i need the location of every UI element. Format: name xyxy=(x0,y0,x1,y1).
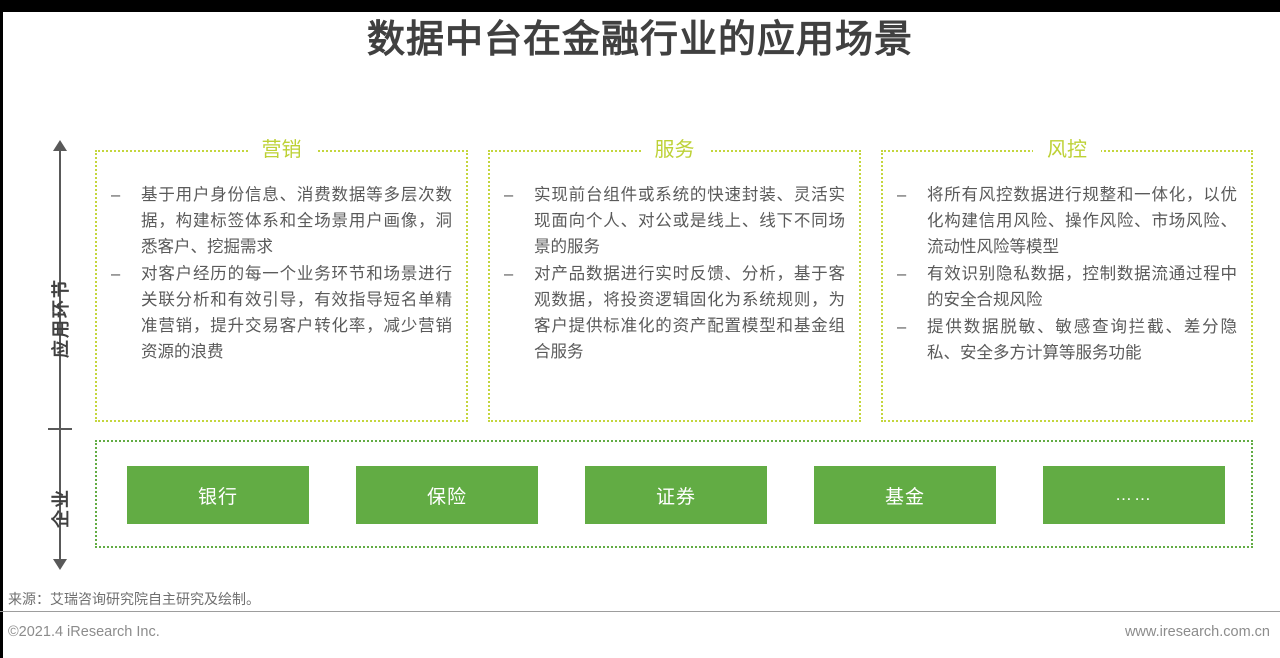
list-item: 对产品数据进行实时反馈、分析，基于客观数据，将投资逻辑固化为系统规则，为客户提供… xyxy=(500,261,845,365)
scenario-cards: 营销 基于用户身份信息、消费数据等多层次数据，构建标签体系和全场景用户画像，洞悉… xyxy=(95,150,1253,422)
axis-label-application-stage: 应用环节 xyxy=(47,278,73,358)
list-item: 将所有风控数据进行规整和一体化，以优化构建信用风险、操作风险、市场风险、流动性风… xyxy=(893,182,1237,260)
source-note: 来源：艾瑞咨询研究院自主研究及绘制。 xyxy=(8,589,260,609)
left-black-edge xyxy=(0,12,3,658)
vertical-axis: 应用环节 企业 xyxy=(40,140,80,570)
scenario-card-title: 服务 xyxy=(641,136,709,164)
scenario-card-title: 营销 xyxy=(248,136,316,164)
enterprise-tile-more[interactable]: …… xyxy=(1043,466,1225,524)
arrow-down-icon xyxy=(53,559,67,570)
top-black-bar xyxy=(0,0,1280,12)
scenario-card-marketing: 营销 基于用户身份信息、消费数据等多层次数据，构建标签体系和全场景用户画像，洞悉… xyxy=(95,150,468,422)
enterprise-band: 银行 保险 证券 基金 …… xyxy=(95,440,1253,548)
scenario-bullet-list: 基于用户身份信息、消费数据等多层次数据，构建标签体系和全场景用户画像，洞悉客户、… xyxy=(97,152,466,365)
scenario-card-title: 风控 xyxy=(1033,136,1101,164)
axis-tick xyxy=(48,428,72,430)
list-item: 有效识别隐私数据，控制数据流通过程中的安全合规风险 xyxy=(893,261,1237,313)
enterprise-tile-row: 银行 保险 证券 基金 …… xyxy=(127,466,1225,524)
enterprise-tile-insurance[interactable]: 保险 xyxy=(356,466,538,524)
scenario-card-service: 服务 实现前台组件或系统的快速封装、灵活实现面向个人、对公或是线上、线下不同场景… xyxy=(488,150,861,422)
enterprise-tile-fund[interactable]: 基金 xyxy=(814,466,996,524)
list-item: 对客户经历的每一个业务环节和场景进行关联分析和有效引导，有效指导短名单精准营销，… xyxy=(107,261,452,365)
scenario-bullet-list: 实现前台组件或系统的快速封装、灵活实现面向个人、对公或是线上、线下不同场景的服务… xyxy=(490,152,859,365)
scenario-bullet-list: 将所有风控数据进行规整和一体化，以优化构建信用风险、操作风险、市场风险、流动性风… xyxy=(883,152,1251,366)
page-title: 数据中台在金融行业的应用场景 xyxy=(0,16,1280,64)
website-url: www.iresearch.com.cn xyxy=(1125,624,1270,640)
scenario-card-risk-control: 风控 将所有风控数据进行规整和一体化，以优化构建信用风险、操作风险、市场风险、流… xyxy=(881,150,1253,422)
axis-label-enterprise: 企业 xyxy=(47,488,73,528)
footer-divider xyxy=(0,611,1280,612)
list-item: 提供数据脱敏、敏感查询拦截、差分隐私、安全多方计算等服务功能 xyxy=(893,314,1237,366)
enterprise-tile-bank[interactable]: 银行 xyxy=(127,466,309,524)
list-item: 实现前台组件或系统的快速封装、灵活实现面向个人、对公或是线上、线下不同场景的服务 xyxy=(500,182,845,260)
enterprise-tile-securities[interactable]: 证券 xyxy=(585,466,767,524)
list-item: 基于用户身份信息、消费数据等多层次数据，构建标签体系和全场景用户画像，洞悉客户、… xyxy=(107,182,452,260)
copyright-note: ©2021.4 iResearch Inc. xyxy=(8,624,160,640)
